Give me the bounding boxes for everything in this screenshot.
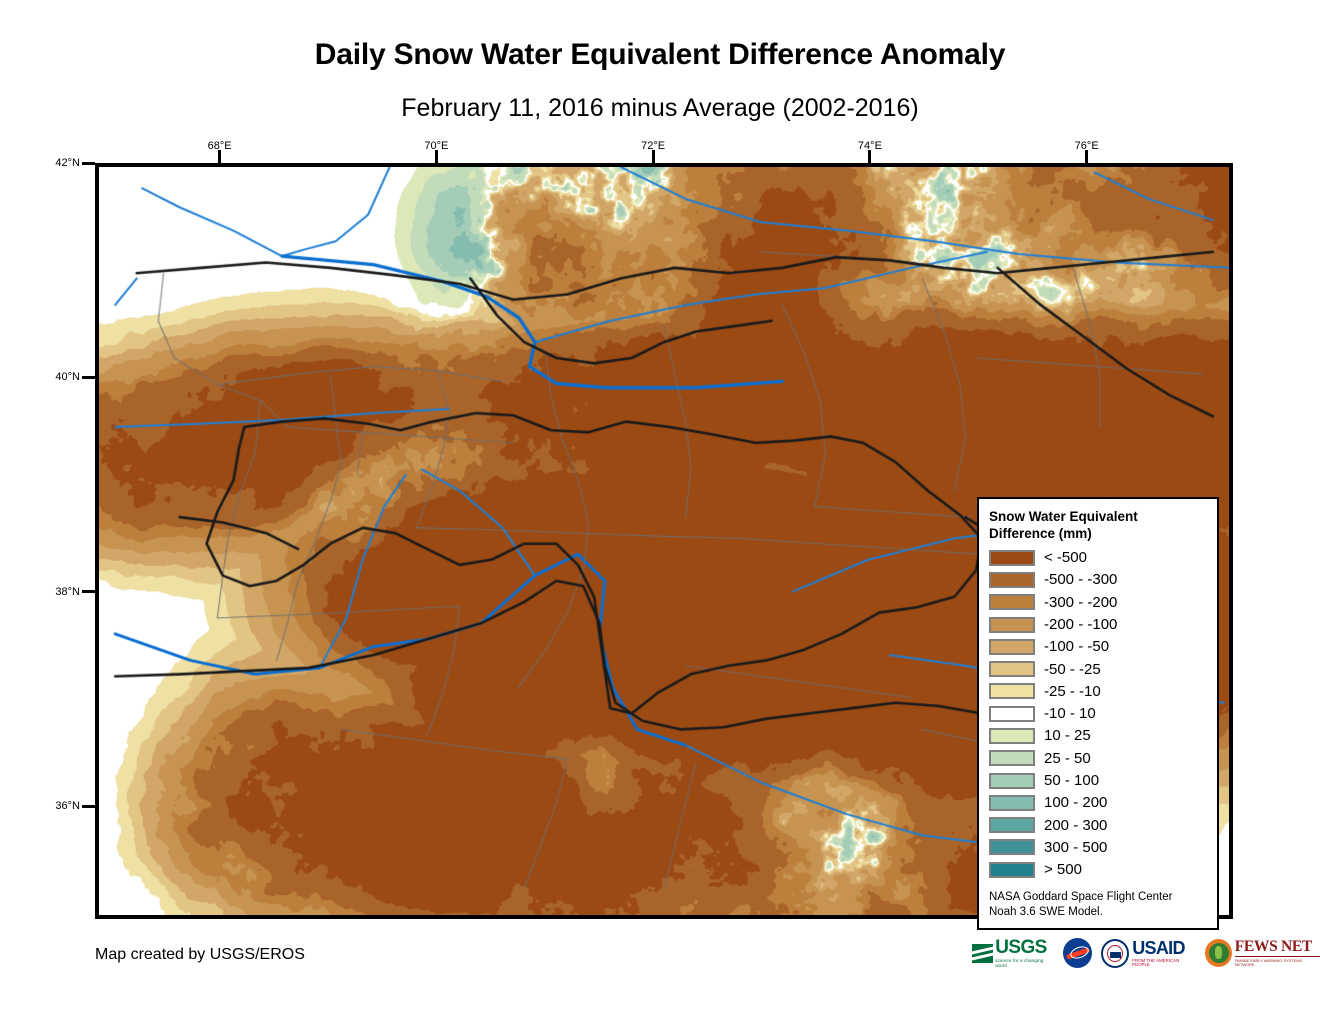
legend-row: 100 - 200 bbox=[989, 792, 1209, 814]
legend-title: Snow Water Equivalent Difference (mm) bbox=[989, 509, 1209, 542]
legend-swatch bbox=[989, 639, 1035, 655]
usgs-logo: USGS science for a changing world bbox=[972, 938, 1054, 968]
lat-tick-label: 40°N bbox=[40, 371, 80, 383]
legend-row: 300 - 500 bbox=[989, 836, 1209, 858]
lon-tick-mark bbox=[435, 150, 438, 163]
legend-row: -300 - -200 bbox=[989, 591, 1209, 613]
legend-row: 200 - 300 bbox=[989, 814, 1209, 836]
legend-label: -300 - -200 bbox=[1044, 595, 1117, 610]
legend-swatch bbox=[989, 617, 1035, 633]
legend-label: > 500 bbox=[1044, 862, 1082, 877]
legend-label: -10 - 10 bbox=[1044, 706, 1096, 721]
legend-row: > 500 bbox=[989, 859, 1209, 881]
fewsnet-logo-text: FEWS NET bbox=[1235, 939, 1320, 957]
legend-label: -50 - -25 bbox=[1044, 662, 1101, 677]
lat-tick-label: 42°N bbox=[40, 157, 80, 169]
legend-label: -500 - -300 bbox=[1044, 572, 1117, 587]
legend-label: 50 - 100 bbox=[1044, 773, 1099, 788]
legend-row: -100 - -50 bbox=[989, 636, 1209, 658]
legend-row: < -500 bbox=[989, 546, 1209, 568]
legend-row: 25 - 50 bbox=[989, 747, 1209, 769]
usaid-logo: USAID FROM THE AMERICAN PEOPLE bbox=[1101, 939, 1196, 968]
map-credit: Map created by USGS/EROS bbox=[95, 946, 305, 964]
legend-swatch bbox=[989, 572, 1035, 588]
legend-label: < -500 bbox=[1044, 550, 1087, 565]
legend-swatch bbox=[989, 750, 1035, 766]
usgs-mark-icon bbox=[972, 944, 993, 963]
page-title: Daily Snow Water Equivalent Difference A… bbox=[0, 38, 1320, 72]
usgs-logo-text: USGS bbox=[995, 938, 1054, 957]
lon-tick-mark bbox=[1085, 150, 1088, 163]
legend-row: -50 - -25 bbox=[989, 658, 1209, 680]
legend-swatch bbox=[989, 706, 1035, 722]
legend-panel: Snow Water Equivalent Difference (mm) < … bbox=[977, 497, 1219, 930]
fewsnet-globe-icon bbox=[1205, 939, 1232, 967]
usaid-logo-tagline: FROM THE AMERICAN PEOPLE bbox=[1132, 959, 1195, 968]
lon-tick-mark bbox=[218, 150, 221, 163]
lon-tick-mark bbox=[868, 150, 871, 163]
legend-swatch bbox=[989, 594, 1035, 610]
lat-tick-label: 38°N bbox=[40, 586, 80, 598]
legend-items: < -500-500 - -300-300 - -200-200 - -100-… bbox=[989, 546, 1209, 880]
usaid-seal-icon bbox=[1101, 939, 1129, 968]
legend-row: 50 - 100 bbox=[989, 769, 1209, 791]
legend-swatch bbox=[989, 817, 1035, 833]
usaid-logo-text: USAID bbox=[1132, 939, 1195, 957]
nasa-meatball-icon bbox=[1063, 938, 1092, 968]
legend-row: -10 - 10 bbox=[989, 703, 1209, 725]
legend-swatch bbox=[989, 550, 1035, 566]
legend-swatch bbox=[989, 795, 1035, 811]
legend-label: -25 - -10 bbox=[1044, 684, 1101, 699]
legend-row: -200 - -100 bbox=[989, 613, 1209, 635]
legend-row: 10 - 25 bbox=[989, 725, 1209, 747]
lat-tick-mark bbox=[82, 590, 95, 593]
legend-label: 100 - 200 bbox=[1044, 795, 1107, 810]
lat-tick-mark bbox=[82, 376, 95, 379]
legend-swatch bbox=[989, 683, 1035, 699]
fewsnet-logo-tagline: FAMINE EARLY WARNING SYSTEMS NETWORK bbox=[1235, 959, 1320, 967]
legend-label: 200 - 300 bbox=[1044, 818, 1107, 833]
agency-logos: USGS science for a changing world USAID … bbox=[972, 936, 1320, 970]
fewsnet-logo: FEWS NET FAMINE EARLY WARNING SYSTEMS NE… bbox=[1205, 939, 1320, 967]
legend-label: 300 - 500 bbox=[1044, 840, 1107, 855]
legend-label: -200 - -100 bbox=[1044, 617, 1117, 632]
legend-label: -100 - -50 bbox=[1044, 639, 1109, 654]
legend-swatch bbox=[989, 862, 1035, 878]
lon-tick-mark bbox=[652, 150, 655, 163]
legend-row: -500 - -300 bbox=[989, 569, 1209, 591]
lat-tick-mark bbox=[82, 162, 95, 165]
legend-swatch bbox=[989, 728, 1035, 744]
map-page: Daily Snow Water Equivalent Difference A… bbox=[0, 0, 1320, 1020]
lat-tick-mark bbox=[82, 805, 95, 808]
legend-row: -25 - -10 bbox=[989, 680, 1209, 702]
legend-source-note: NASA Goddard Space Flight Center Noah 3.… bbox=[989, 890, 1209, 920]
usgs-logo-tagline: science for a changing world bbox=[995, 959, 1054, 968]
legend-swatch bbox=[989, 773, 1035, 789]
legend-label: 25 - 50 bbox=[1044, 751, 1091, 766]
legend-swatch bbox=[989, 839, 1035, 855]
legend-label: 10 - 25 bbox=[1044, 728, 1091, 743]
page-subtitle: February 11, 2016 minus Average (2002-20… bbox=[0, 94, 1320, 123]
lat-tick-label: 36°N bbox=[40, 800, 80, 812]
legend-swatch bbox=[989, 661, 1035, 677]
